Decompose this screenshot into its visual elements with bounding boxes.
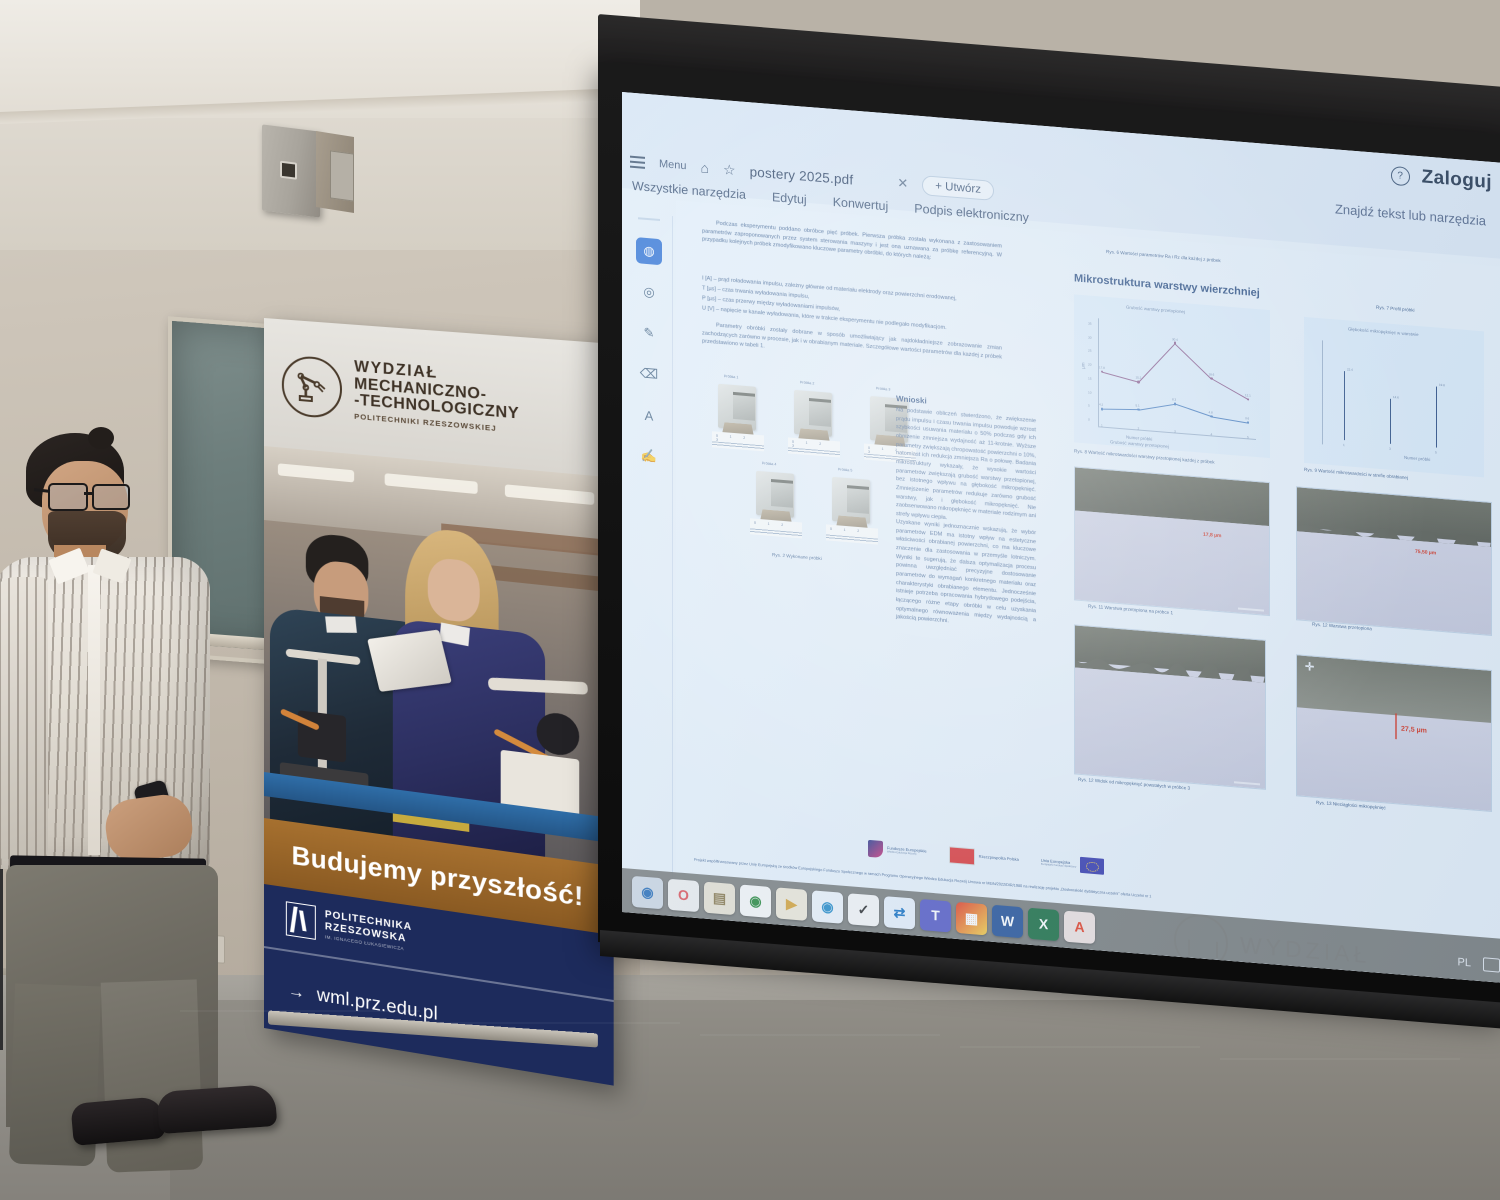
chart1-ytick: 0 [1088, 417, 1090, 421]
chart1-ytick: 10 [1088, 390, 1092, 394]
chart1-ytick: 35 [1088, 321, 1092, 325]
chart1-x-axis [1098, 426, 1256, 440]
presenter [0, 425, 290, 1145]
faculty-name: WYDZIAŁ MECHANICZNO- -TECHNOLOGICZNY POL… [354, 359, 519, 435]
specimen-4-ruler: 0 1 2 [750, 518, 802, 538]
tab-edit[interactable]: Edytuj [772, 190, 807, 207]
fe-text: Fundusze Europejskie Wiedza Edukacja Roz… [887, 845, 927, 856]
menu-label[interactable]: Menu [659, 158, 687, 172]
chart1-xtick: 5 [1247, 435, 1249, 439]
chart2-bar [1436, 387, 1437, 448]
wall-speaker [262, 124, 320, 217]
glasses-lens-left [48, 483, 88, 511]
conclusions-paragraph-1: Na podstawie obliczeń stwierdzono, że zw… [896, 406, 1036, 530]
chart1-ytick: 25 [1088, 349, 1092, 353]
plus-icon: + [935, 180, 942, 193]
chart1-title: Grubość warstwy przetopionej [1126, 305, 1185, 315]
chart1-point-label: 4.8 [1209, 410, 1213, 414]
rig2-arm [488, 677, 588, 694]
search-icon[interactable]: ◎ [636, 278, 662, 306]
funding-fe: Fundusze Europejskie Wiedza Edukacja Roz… [868, 839, 927, 861]
todo-icon[interactable]: ✓ [848, 893, 879, 926]
specimen-4-label: Próbka 4 [762, 461, 776, 466]
help-icon[interactable]: ? [1391, 165, 1410, 186]
floor-seam [440, 1022, 680, 1024]
caption-fig7: Rys. 7 Profil próbki [1376, 305, 1415, 313]
adobe-acrobat-window[interactable]: ? Zaloguj Znajdź tekst lub narzędzia Men… [622, 92, 1500, 983]
floor-seam [960, 1046, 1200, 1048]
edge-icon[interactable]: ◉ [812, 890, 843, 923]
specimen-4: Próbka 4 0 1 2 [748, 468, 804, 545]
chart1-segment [1138, 343, 1176, 383]
chart1-legend-a: Grubość warstwy przetopionej [1110, 439, 1169, 449]
banner-photo [264, 446, 614, 866]
chart2-xtick: 1 [1343, 443, 1345, 447]
specimen-2-label: Próbka 2 [800, 380, 814, 385]
chart1-ytick: 5 [1088, 404, 1090, 408]
glasses-lens-right [92, 484, 130, 510]
floor-seam [1220, 1058, 1460, 1060]
university-logo-block: POLITECHNIKA RZESZOWSKA IM. IGNACEGO ŁUK… [286, 901, 412, 954]
micrograph-fig12: 75,50 µm [1296, 486, 1492, 636]
specimen-2-ruler: 0 1 2 3 [788, 437, 840, 457]
star-icon[interactable]: ☆ [723, 161, 736, 179]
office-icon[interactable]: ▦ [956, 901, 987, 934]
chart2-xlabel: Numer próbki [1404, 455, 1430, 462]
chart1-segment [1175, 404, 1212, 418]
microstructure-heading: Mikrostruktura warstwy wierzchniej [1074, 272, 1260, 299]
media-player-icon[interactable]: ▶ [776, 887, 807, 920]
classroom-presentation-scene: WYDZIAŁ MECHANICZNO- -TECHNOLOGICZNY POL… [0, 0, 1500, 1200]
opera-icon[interactable]: O [668, 878, 699, 911]
specimen-2-face [809, 399, 831, 427]
chart1-xtick: 2 [1138, 426, 1140, 430]
chart2-y-axis [1322, 340, 1323, 444]
eu-flag-icon [1080, 857, 1104, 875]
arrow-right-icon: → [288, 980, 305, 1003]
micrograph-fig13: ✛ 27,5 µm [1296, 654, 1492, 812]
chart1-segment [1138, 404, 1175, 411]
micrograph-fig12b [1074, 624, 1266, 789]
chart1-point-label: 17.8 [1099, 366, 1105, 370]
university-mark-icon [286, 901, 316, 940]
university-name: POLITECHNIKA RZESZOWSKA IM. IGNACEGO ŁUK… [325, 909, 412, 953]
pen-icon[interactable]: ✎ [636, 319, 662, 347]
close-tab-icon[interactable]: ✕ [897, 175, 908, 192]
chart1-point-label: 18.6 [1209, 372, 1215, 376]
chart1-segment [1102, 372, 1139, 383]
presenter-shoe-left [70, 1096, 165, 1146]
specimen-1-face [733, 393, 755, 421]
create-label: Utwórz [945, 181, 981, 196]
specimen-4-face [771, 480, 793, 508]
presenter-shoe-right [157, 1084, 278, 1134]
chart1-segment [1102, 409, 1139, 411]
robot-arm-icon [282, 354, 342, 419]
floor-seam [700, 1034, 940, 1036]
chart2-xtick: 5 [1435, 450, 1437, 454]
chrome-icon[interactable]: ◉ [740, 884, 771, 917]
pdf-poster-page[interactable]: Podczas eksperymentu poddano obróbce pię… [676, 200, 1500, 982]
crosshair-icon: ✛ [1305, 660, 1314, 674]
chart1-ytick: 20 [1088, 363, 1092, 367]
chart1-point-label: 5.1 [1136, 403, 1140, 407]
toolbar-divider [638, 217, 660, 221]
micro13-measure-arrow [1393, 713, 1399, 739]
excel-icon[interactable]: X [1028, 907, 1059, 940]
specimen-5-ruler: 0 1 2 [826, 524, 878, 544]
presenter-hair-bun [88, 427, 114, 449]
chart1-segment [1175, 343, 1212, 379]
glasses-bridge [84, 492, 92, 495]
projected-desktop[interactable]: ? Zaloguj Znajdź tekst lub narzędzia Men… [622, 92, 1500, 983]
chart1-ylabel: µm [1081, 362, 1086, 369]
hamburger-menu-icon[interactable] [630, 156, 645, 169]
conclusions-paragraph-2: Uzyskane wyniki jednoznacznie wskazują, … [896, 518, 1036, 633]
chart2-bar-label: 19.8 [1439, 383, 1445, 387]
specimen-5: Próbka 5 0 1 2 [824, 474, 880, 551]
system-tray[interactable]: PL [1458, 955, 1500, 972]
specimen-1: Próbka 1 0 1 2 3 [710, 381, 766, 458]
chart1-segment [1211, 416, 1248, 424]
text-box-icon[interactable]: A [636, 401, 662, 429]
chart1-ytick: 30 [1088, 335, 1092, 339]
chart1-point [1247, 398, 1250, 401]
chart1-point-label: 12.1 [1245, 393, 1251, 397]
acrobat-left-toolbar[interactable]: ◍ ◎ ✎ ⌫ A ✍ [630, 217, 668, 520]
pl-label: Rzeczpospolita Polska [979, 854, 1019, 862]
chart1-xtick: 4 [1211, 432, 1213, 436]
tab-postery-2025[interactable]: postery 2025.pdf [750, 164, 854, 187]
specimen-5-face [847, 486, 869, 514]
chart-line-melted-layer: Grubość warstwy przetopionej Numer próbk… [1074, 294, 1270, 458]
presenter-leg-right [101, 979, 204, 1172]
specimen-1-ruler: 0 1 2 3 [712, 431, 764, 451]
ue-text: Unia Europejska Europejski Fundusz Społe… [1041, 858, 1076, 869]
specimen-5-ruler-lines [826, 534, 878, 543]
specimen-2: Próbka 2 0 1 2 3 [786, 387, 842, 464]
shirt-placket [88, 565, 100, 855]
chart2-title: Głębokość mikropęknięć w warstwie [1348, 326, 1419, 337]
teamviewer-icon[interactable]: ⇄ [884, 896, 915, 929]
home-icon[interactable]: ⌂ [701, 159, 709, 176]
chart1-xtick: 1 [1101, 424, 1103, 428]
specimen-1-label: Próbka 1 [724, 374, 738, 379]
chart2-bar [1390, 399, 1391, 444]
presenter-arm-left [0, 577, 48, 859]
chart1-point-label: 8.3 [1172, 397, 1176, 401]
poster-paragraph-1: Podczas eksperymentu poddano obróbce pię… [702, 218, 1002, 268]
fundusze-europejskie-icon [868, 839, 883, 857]
notes-icon[interactable]: ▤ [704, 881, 735, 914]
floor-seam [180, 1010, 420, 1012]
specimen-5-label: Próbka 5 [838, 467, 852, 472]
create-button[interactable]: + Utwórz [922, 175, 994, 201]
acrobat-icon[interactable]: A [1064, 910, 1095, 943]
speaker-bracket [330, 150, 354, 201]
signature-icon[interactable]: ✍ [636, 442, 662, 470]
rollup-banner: WYDZIAŁ MECHANICZNO- -TECHNOLOGICZNY POL… [264, 318, 614, 1086]
chart1-y-axis [1098, 318, 1099, 426]
chart1-ytick: 15 [1088, 376, 1092, 380]
chart2-bar-label: 14.6 [1393, 395, 1399, 399]
chart1-point-label: 30.4 [1172, 337, 1178, 341]
chart2-xtick: 3 [1389, 447, 1391, 451]
ai-assistant-icon[interactable]: ◍ [636, 237, 662, 265]
network-icon[interactable] [1483, 957, 1500, 972]
specimen-5-ruler-marks: 0 1 2 [830, 527, 865, 534]
eraser-icon[interactable]: ⌫ [636, 360, 662, 388]
specimen-3-label: Próbka 3 [876, 386, 890, 391]
photo-male-collar [325, 616, 357, 632]
chart-bar-microcracks: Głębokość mikropęknięć w warstwie Numer … [1304, 317, 1484, 477]
language-indicator[interactable]: PL [1458, 956, 1471, 969]
chart2-bar [1344, 371, 1345, 440]
chart1-point-label: 4.2 [1099, 403, 1103, 407]
word-icon[interactable]: W [992, 904, 1023, 937]
banner-logo-wrap: WYDZIAŁ MECHANICZNO- -TECHNOLOGICZNY POL… [282, 353, 519, 435]
rig2-head [537, 711, 580, 758]
presenter-glasses [48, 483, 136, 507]
chart1-xtick: 3 [1174, 429, 1176, 433]
caption-fig2: Rys. 2 Wykonane próbki [772, 552, 822, 561]
caption-fig6: Rys. 6 Wartości parametrów Ra i Rz dla k… [1106, 249, 1221, 263]
toolbar-separator [672, 216, 673, 916]
teams-icon[interactable]: T [920, 898, 951, 931]
specimen-4-ruler-lines [750, 528, 802, 537]
chart1-segment [1211, 378, 1248, 400]
micrograph-fig11: 17,8 µm [1074, 466, 1270, 616]
poland-flag-icon [949, 846, 975, 865]
chart1-point-label: 3.6 [1245, 416, 1249, 420]
funding-ue: Unia Europejska Europejski Fundusz Społe… [1041, 854, 1104, 875]
specimen-4-ruler-marks: 0 1 2 [754, 521, 789, 528]
funding-pl: Rzeczpospolita Polska [949, 846, 1019, 869]
chart2-bar-label: 22.4 [1347, 368, 1353, 372]
windows-explorer-icon[interactable]: ◉ [632, 875, 663, 908]
